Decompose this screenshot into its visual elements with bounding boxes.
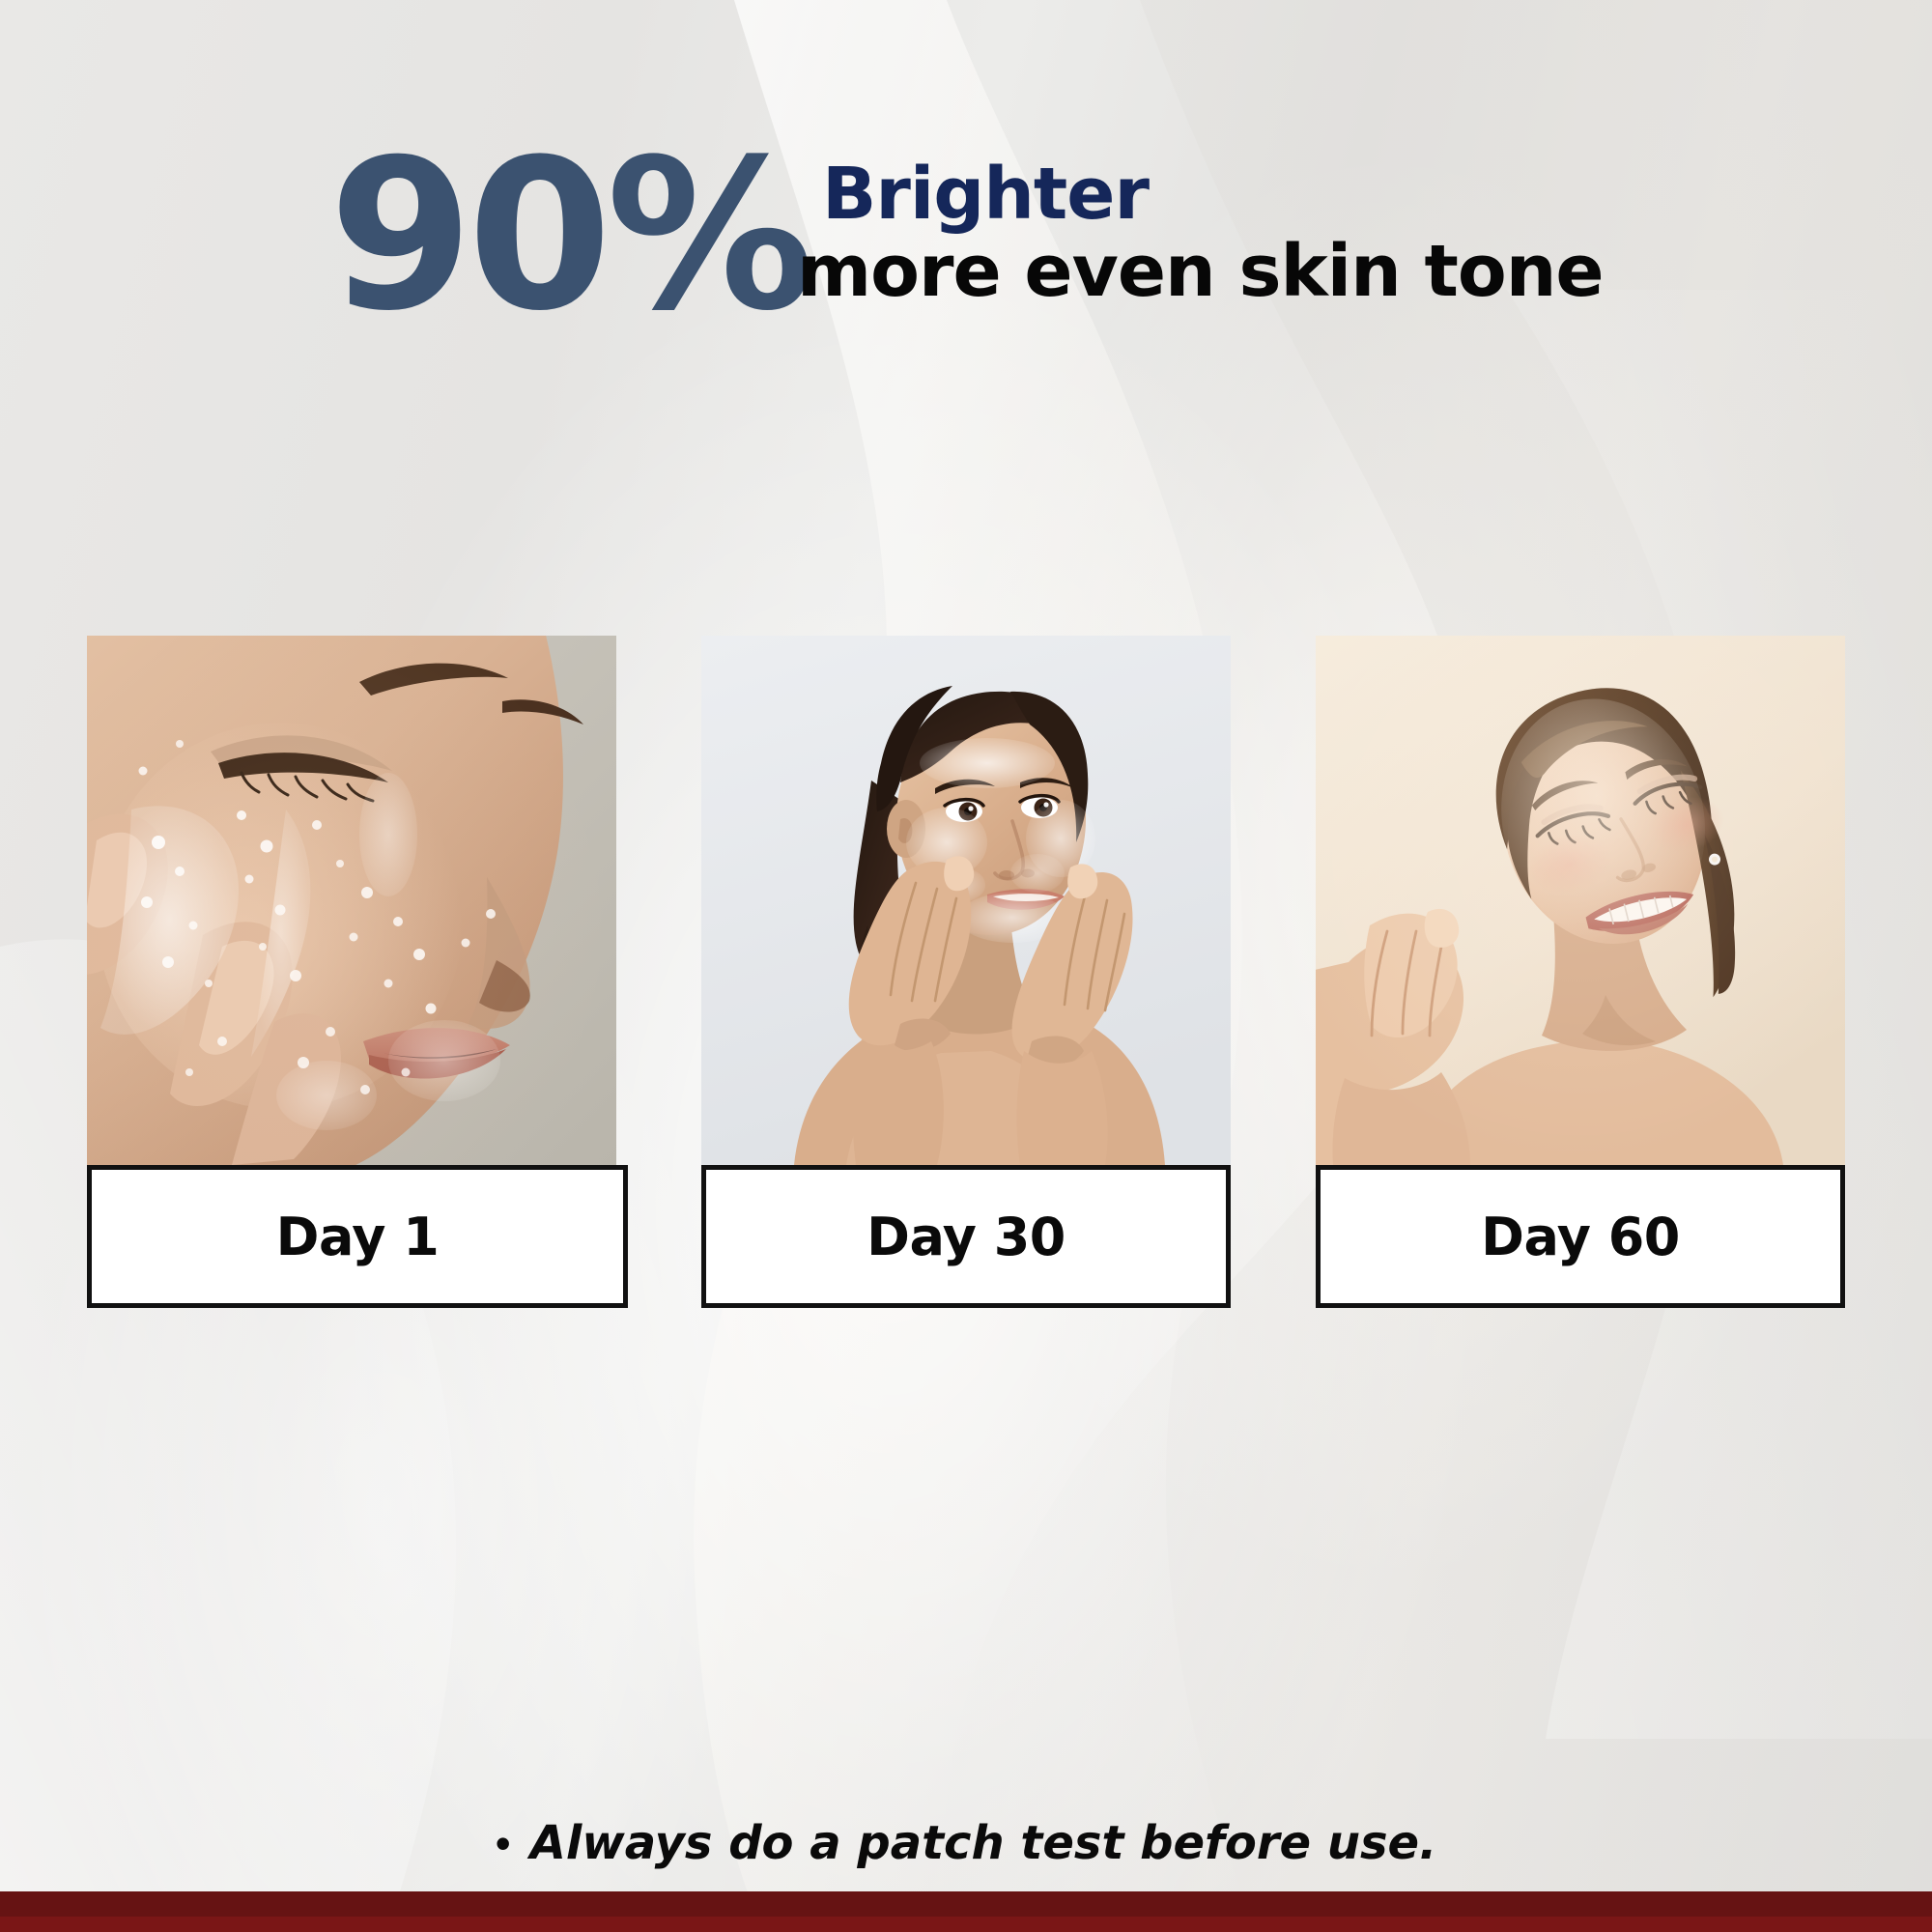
patch-test-note: • Always do a patch test before use. (0, 1816, 1932, 1870)
headline-emphasis: Brighter (822, 158, 1604, 230)
photo-woman-washing-face-closeup-foam (87, 636, 616, 1165)
headline-block: 90% Brighter more even skin tone (0, 145, 1932, 357)
bottom-accent-strip (0, 1917, 1932, 1932)
day-label-1: Day 1 (87, 1165, 628, 1308)
day-label-60: Day 60 (1316, 1165, 1845, 1308)
bottom-accent-bar (0, 1891, 1932, 1932)
result-card-day-30[interactable]: Day 30 (701, 636, 1231, 1308)
bullet-icon: • (496, 1821, 511, 1865)
result-card-day-60[interactable]: Day 60 (1316, 636, 1845, 1308)
result-card-day-1[interactable]: Day 1 (87, 636, 616, 1308)
patch-test-note-text: Always do a patch test before use. (530, 1816, 1437, 1870)
photo-woman-applying-cleanser-both-hands (701, 636, 1231, 1165)
day-label-30: Day 30 (701, 1165, 1231, 1308)
headline-subline: more even skin tone (797, 236, 1604, 307)
stat-percent: 90% (328, 139, 809, 332)
results-timeline-gallery: Day 1 (87, 636, 1845, 1308)
photo-woman-glowing-skin-smiling-eyes-closed (1316, 636, 1845, 1165)
